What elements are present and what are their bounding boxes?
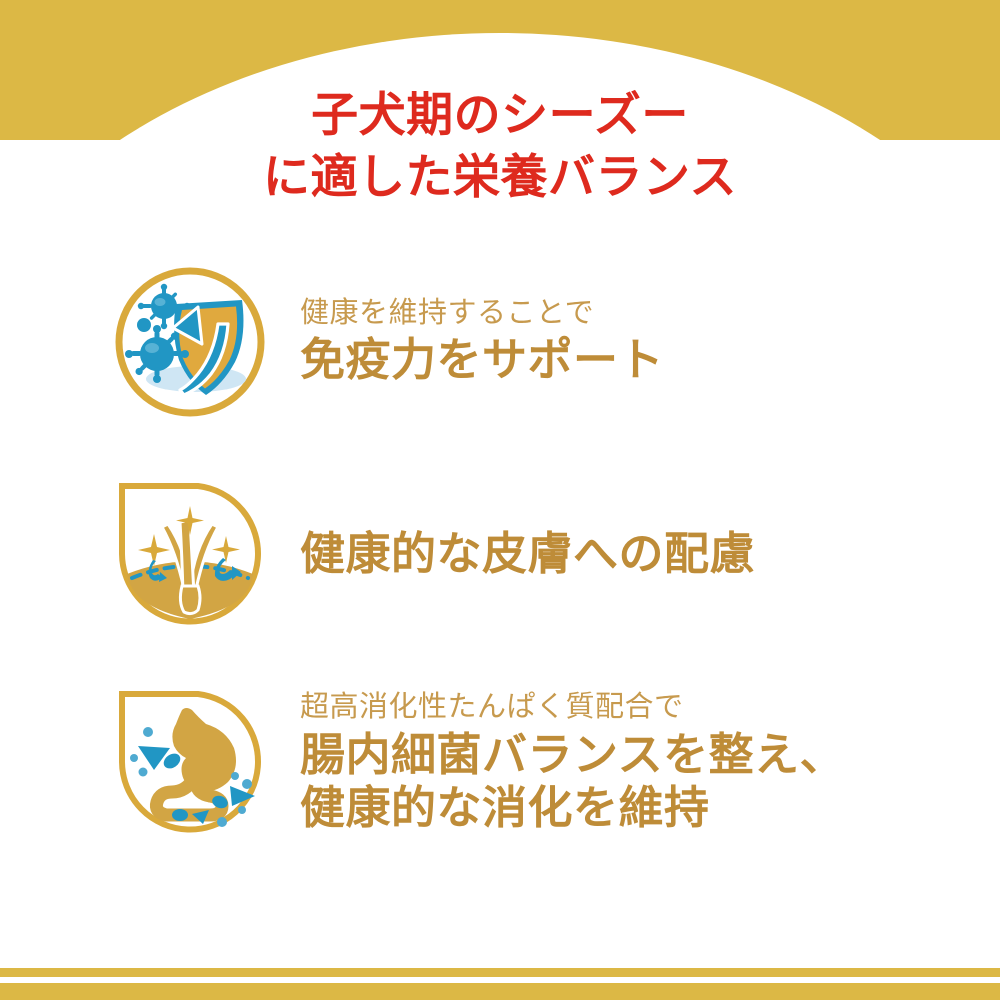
benefit-item-digestion: 超高消化性たんぱく質配合で 腸内細菌バランスを整え、 健康的な消化を維持 bbox=[110, 682, 940, 842]
benefit-title: 免疫力をサポート bbox=[300, 333, 664, 388]
promo-panel: 子犬期のシーズー に適した栄養バランス bbox=[0, 0, 1000, 1000]
shield-immunity-icon bbox=[110, 262, 270, 422]
benefit-text-digestion: 超高消化性たんぱく質配合で 腸内細菌バランスを整え、 健康的な消化を維持 bbox=[300, 690, 845, 834]
bottom-gold-bar-thick bbox=[0, 983, 1000, 1000]
bottom-gold-bar-thin bbox=[0, 968, 1000, 977]
benefit-item-immunity: 健康を維持することで 免疫力をサポート bbox=[110, 262, 940, 422]
benefit-title-line-2: 健康的な消化を維持 bbox=[300, 781, 845, 834]
page-title: 子犬期のシーズー に適した栄養バランス bbox=[0, 84, 1000, 208]
benefit-text-skin: 健康的な皮膚への配慮 bbox=[300, 527, 755, 582]
digestive-stomach-intestine-icon bbox=[110, 682, 270, 842]
benefit-item-skin: 健康的な皮膚への配慮 bbox=[110, 474, 940, 634]
benefit-subtitle: 超高消化性たんぱく質配合で bbox=[300, 690, 845, 725]
skin-hair-follicle-icon bbox=[110, 474, 270, 634]
benefit-title-line-1: 腸内細菌バランスを整え、 bbox=[300, 728, 845, 781]
benefit-subtitle: 健康を維持することで bbox=[300, 296, 664, 331]
page-title-line-1: 子犬期のシーズー bbox=[0, 84, 1000, 146]
footer-brand bbox=[0, 880, 1000, 960]
benefit-text-immunity: 健康を維持することで 免疫力をサポート bbox=[300, 296, 664, 388]
benefit-title: 健康的な皮膚への配慮 bbox=[300, 527, 755, 582]
page-title-line-2: に適した栄養バランス bbox=[0, 146, 1000, 208]
